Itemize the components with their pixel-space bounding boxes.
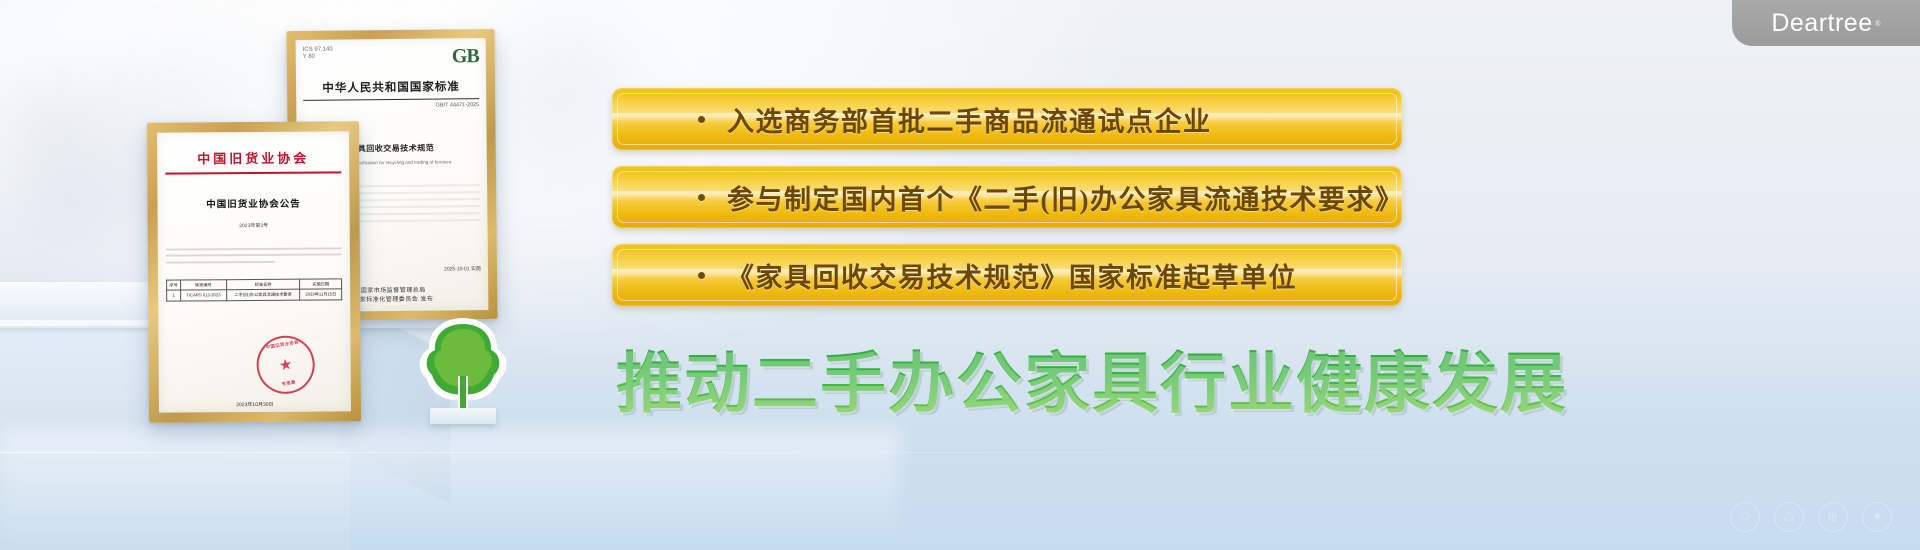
page-headline: 推动二手办公家具行业健康发展 [616, 330, 1568, 426]
eco-icon-group: ♲ ♺ ⊕ ✦ [1730, 502, 1892, 532]
tree-icon [408, 316, 518, 416]
recycle-icon: ♲ [1730, 502, 1760, 532]
seal-top-text: 中国旧货业协会 [265, 339, 299, 350]
highlight-item-3[interactable]: 《家具回收交易技术规范》国家标准起草单位 [612, 244, 1402, 306]
standard-subject: 家具回收交易技术规范 [349, 143, 434, 155]
shield-icon: ✦ [1862, 502, 1892, 532]
table-header-cell: 实施日期 [300, 279, 342, 290]
standard-issuer-note: 发布 [420, 297, 433, 303]
table-cell: 2023年11月15日 [300, 289, 342, 300]
leaf-icon: ♺ [1774, 502, 1804, 532]
association-standard-table: 序号 标准编号 标准名称 实施日期 1 T/CARS 013-2023 二手(旧… [166, 278, 342, 301]
association-body-lines [166, 242, 342, 267]
standee-base [430, 408, 496, 424]
floor-reflection [0, 430, 900, 550]
globe-icon: ⊕ [1818, 502, 1848, 532]
highlight-text: 参与制定国内首个《二手(旧)办公家具流通技术要求》 [727, 178, 1402, 217]
highlight-item-2[interactable]: 参与制定国内首个《二手(旧)办公家具流通技术要求》 [612, 166, 1402, 228]
table-cell: T/CARS 013-2023 [181, 290, 227, 301]
certificate-association: 中国旧货业协会 中国旧货业协会公告 2023年第3号 序号 标准编号 标准名称 … [147, 121, 361, 422]
brand-logo[interactable]: Deartree ® [1732, 0, 1920, 46]
table-cell: 二手(旧)办公家具流通技术要求 [226, 290, 300, 301]
highlight-item-1[interactable]: 入选商务部首批二手商品流通试点企业 [612, 88, 1402, 150]
table-header-cell: 标准编号 [181, 280, 227, 291]
standard-code: GB/T 44471-2025 [303, 102, 479, 110]
registered-mark-icon: ® [1875, 19, 1881, 28]
association-date: 2023年10月30日 [236, 401, 273, 408]
bullet-icon [698, 272, 705, 279]
highlight-text: 入选商务部首批二手商品流通试点企业 [727, 100, 1212, 139]
tree-logo-standee [408, 316, 518, 424]
promo-banner: ICS 97.140 Y 80 GB 中华人民共和国国家标准 GB/T 4447… [0, 0, 1920, 550]
standard-effect-date: 2025-10-01 实施 [444, 265, 481, 272]
table-cell: 1 [167, 290, 181, 301]
floor-line [0, 452, 1920, 453]
table-header-cell: 序号 [167, 280, 181, 291]
association-doc-title: 中国旧货业协会公告 [206, 196, 301, 211]
highlight-text: 《家具回收交易技术规范》国家标准起草单位 [727, 256, 1297, 295]
association-org-name: 中国旧货业协会 [197, 148, 309, 168]
highlight-list: 入选商务部首批二手商品流通试点企业 参与制定国内首个《二手(旧)办公家具流通技术… [612, 88, 1402, 322]
table-row: 1 T/CARS 013-2023 二手(旧)办公家具流通技术要求 2023年1… [167, 289, 342, 301]
seal-bottom-text: 专用章 [281, 379, 296, 387]
divider [165, 171, 341, 174]
bullet-icon [698, 194, 705, 201]
bullet-icon [698, 116, 705, 123]
brand-name: Deartree [1771, 9, 1872, 38]
standard-country-title: 中华人民共和国国家标准 [322, 78, 460, 95]
standard-ics-mark: ICS 97.140 Y 80 [303, 47, 333, 61]
divider [303, 98, 479, 101]
association-issue-no: 2023年第3号 [239, 222, 268, 229]
gb-logo: GB [452, 45, 479, 68]
table-header-cell: 标准名称 [226, 279, 300, 290]
